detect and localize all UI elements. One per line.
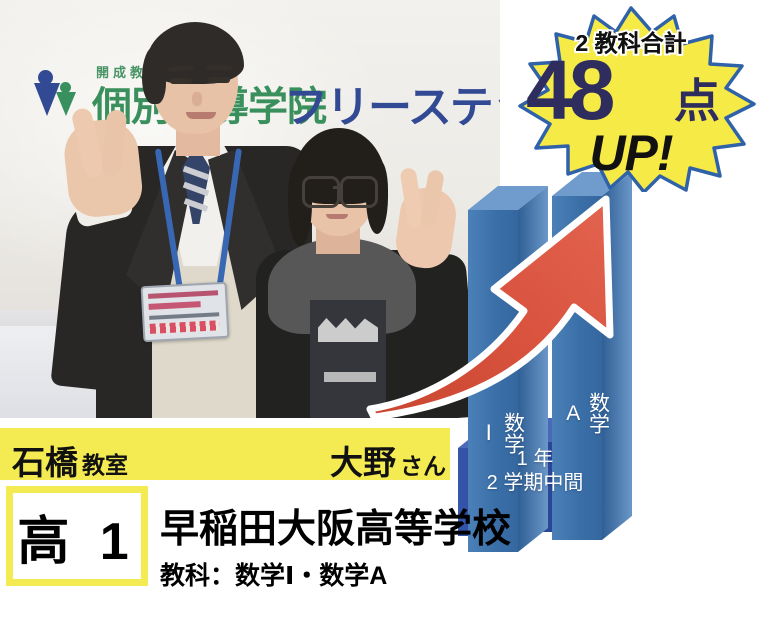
growth-arrow <box>360 185 630 420</box>
bottom-white-strip <box>0 608 760 620</box>
burst-text-group: 2 教科合計 2 教科合計 48 点 UP! <box>506 6 756 192</box>
promo-result-card: 開成教育グループ 個別指導学院 フリーステップ <box>0 0 760 620</box>
school-name: 早稲田大阪高等学校 <box>160 498 511 554</box>
grade-badge-label: 高 1 <box>17 499 136 574</box>
burst-score-unit: 点 <box>674 78 720 124</box>
burst-up-text: UP! <box>506 128 756 178</box>
student-name-suffix: さん <box>400 447 446 481</box>
subject-line: 教科：数学Ⅰ・数学A <box>160 556 387 592</box>
growth-arrow-svg <box>360 185 630 420</box>
grade-badge: 高 1 <box>6 486 148 586</box>
classroom-suffix: 教室 <box>82 446 128 480</box>
burst-score-number: 48 <box>526 48 611 132</box>
classroom-name: 石橋 <box>12 436 78 484</box>
teacher-id-badge <box>141 282 230 342</box>
bar-label-midterm: 1 年 2 学期中間 <box>460 448 610 495</box>
student-name: 大野 <box>330 436 396 484</box>
student-glasses-icon <box>302 176 340 208</box>
